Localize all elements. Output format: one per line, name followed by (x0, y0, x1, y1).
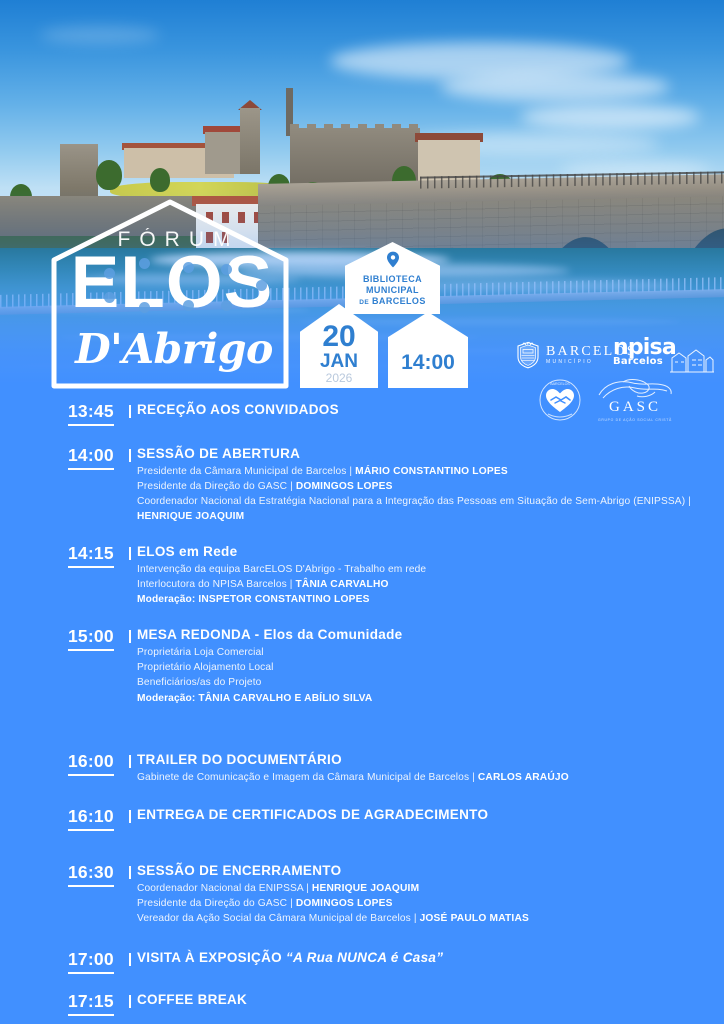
schedule-slot-detail: Vereador da Ação Social da Câmara Munici… (137, 911, 724, 926)
dabrigo-subtitle: D'Abrigo (64, 325, 284, 373)
schedule-slot-detail: Presidente da Direção do GASC | DOMINGOS… (137, 896, 724, 911)
schedule-slot-time-column: 14:00 (68, 444, 137, 470)
schedule-slot-title: ENTREGA DE CERTIFICADOS DE AGRADECIMENTO (137, 807, 724, 824)
speaker-name: TÂNIA CARVALHO (295, 579, 388, 590)
elos-title: ELOS (64, 246, 280, 319)
schedule-slot-title-italic: “A Rua NUNCA é Casa” (286, 950, 443, 965)
date-month: JAN (300, 352, 378, 371)
schedule-slot-detail: Coordenador Nacional da Estratégia Nacio… (137, 494, 724, 524)
schedule-slot-tick (129, 405, 131, 418)
schedule-slot-detail: Gabinete de Comunicação e Imagem da Câma… (137, 770, 724, 785)
puzzle-notch (139, 302, 150, 313)
date-year: 2026 (300, 372, 378, 384)
schedule-slot-body: ENTREGA DE CERTIFICADOS DE AGRADECIMENTO (137, 805, 724, 825)
schedule-slot-title: MESA REDONDA - Elos da Comunidade (137, 627, 724, 644)
venue-card-text: BIBLIOTECA MUNICIPAL DE BARCELOS (345, 274, 440, 307)
schedule-slot-detail: Proprietário Alojamento Local (137, 660, 724, 675)
puzzle-notch (183, 300, 194, 311)
puzzle-notch (183, 262, 194, 273)
schedule-slot-body: ELOS em RedeIntervenção da equipa BarcEL… (137, 542, 724, 607)
schedule-slot-tick (129, 810, 131, 823)
cloud (440, 72, 670, 102)
schedule-slot-time: 16:00 (68, 751, 114, 776)
schedule-slot-body: SESSÃO DE ENCERRAMENTOCoordenador Nacion… (137, 861, 724, 926)
puzzle-notch (221, 264, 232, 275)
schedule-slot: 16:10ENTREGA DE CERTIFICADOS DE AGRADECI… (0, 805, 724, 831)
schedule-slot-time-column: 15:00 (68, 625, 137, 651)
npisa-building-icon (670, 344, 714, 374)
cloud (520, 104, 700, 130)
schedule-slot-title: COFFEE BREAK (137, 992, 724, 1009)
schedule-slot-time-column: 16:00 (68, 750, 137, 776)
schedule-slot-title: SESSÃO DE ABERTURA (137, 446, 724, 463)
schedule-slot-title: TRAILER DO DOCUMENTÁRIO (137, 752, 724, 769)
schedule-slot-time: 13:45 (68, 401, 114, 426)
event-schedule: 13:45RECEÇÃO AOS CONVIDADOS14:00SESSÃO D… (0, 400, 724, 1016)
schedule-slot-body: TRAILER DO DOCUMENTÁRIOGabinete de Comun… (137, 750, 724, 785)
schedule-slot: 14:00SESSÃO DE ABERTURAPresidente da Câm… (0, 444, 724, 524)
schedule-slot-time-column: 13:45 (68, 400, 137, 426)
puzzle-notch (221, 300, 232, 311)
time-value: 14:00 (388, 352, 468, 373)
schedule-slot-detail: Coordenador Nacional da ENIPSSA | HENRIQ… (137, 881, 724, 896)
puzzle-notch (104, 292, 115, 303)
schedule-slot-detail: Moderação: INSPETOR CONSTANTINO LOPES (137, 592, 724, 607)
schedule-slot-time: 16:10 (68, 806, 114, 831)
schedule-slot-time-column: 17:15 (68, 990, 137, 1016)
npisa-wordmark: npisa Barcelos (613, 338, 676, 367)
schedule-slot-title: ELOS em Rede (137, 544, 724, 561)
speaker-name: INSPETOR CONSTANTINO LOPES (198, 594, 369, 605)
schedule-slot-time: 16:30 (68, 862, 114, 887)
schedule-slot-body: RECEÇÃO AOS CONVIDADOS (137, 400, 724, 420)
schedule-slot: 13:45RECEÇÃO AOS CONVIDADOS (0, 400, 724, 426)
schedule-slot-body: COFFEE BREAK (137, 990, 724, 1010)
speaker-name: DOMINGOS LOPES (296, 898, 393, 909)
venue-line-3: BARCELOS (372, 296, 426, 306)
schedule-slot-detail: Interlocutora do NPISA Barcelos | TÂNIA … (137, 577, 724, 592)
schedule-slot-detail: Intervenção da equipa BarcELOS D'Abrigo … (137, 562, 724, 577)
schedule-slot-time: 17:15 (68, 991, 114, 1016)
schedule-slot-body: MESA REDONDA - Elos da ComunidadeProprie… (137, 625, 724, 705)
speaker-name: HENRIQUE JOAQUIM (312, 883, 419, 894)
elos-title-text: ELOS (71, 242, 274, 323)
schedule-slot-time-column: 16:30 (68, 861, 137, 887)
schedule-slot-title: SESSÃO DE ENCERRAMENTO (137, 863, 724, 880)
schedule-slot: 16:30SESSÃO DE ENCERRAMENTOCoordenador N… (0, 861, 724, 926)
schedule-slot-title: RECEÇÃO AOS CONVIDADOS (137, 402, 724, 419)
schedule-slot-time: 15:00 (68, 626, 114, 651)
schedule-slot-time: 14:00 (68, 445, 114, 470)
schedule-slot-tick (129, 449, 131, 462)
schedule-slot: 15:00MESA REDONDA - Elos da ComunidadePr… (0, 625, 724, 705)
schedule-slot-time: 17:00 (68, 949, 114, 974)
schedule-slot: 14:15ELOS em RedeIntervenção da equipa B… (0, 542, 724, 607)
venue-line-1: BIBLIOTECA (345, 274, 440, 285)
svg-text:BARCELOS: BARCELOS (550, 382, 570, 386)
schedule-slot-tick (129, 755, 131, 768)
schedule-slot-detail: Beneficiários/as do Projeto (137, 675, 724, 690)
moderation-label: Moderação: (137, 594, 198, 605)
speaker-name: DOMINGOS LOPES (296, 481, 393, 492)
event-poster: FÓRUM ELOS D'Abrigo BIBLIOTECA MUNICIPAL… (0, 0, 724, 1024)
schedule-slot-detail: Presidente da Câmara Municipal de Barcel… (137, 464, 724, 479)
venue-de: DE (359, 299, 369, 306)
schedule-slot-tick (129, 547, 131, 560)
schedule-slot-tick (129, 630, 131, 643)
schedule-slot-time: 14:15 (68, 543, 114, 568)
logo-npisa-barcelos: npisa Barcelos (613, 338, 714, 374)
schedule-slot: 17:00VISITA À EXPOSIÇÃO “A Rua NUNCA é C… (0, 948, 724, 974)
cloud (40, 26, 160, 44)
venue-line-3-wrap: DE BARCELOS (345, 296, 440, 307)
date-day: 20 (300, 322, 378, 352)
schedule-slot-tick (129, 866, 131, 879)
schedule-slot-title: VISITA À EXPOSIÇÃO “A Rua NUNCA é Casa” (137, 950, 724, 967)
schedule-slot-body: VISITA À EXPOSIÇÃO “A Rua NUNCA é Casa” (137, 948, 724, 968)
puzzle-notch (256, 280, 267, 291)
schedule-slot-tick (129, 953, 131, 966)
schedule-slot-detail: Proprietária Loja Comercial (137, 645, 724, 660)
schedule-slot-detail: Presidente da Direção do GASC | DOMINGOS… (137, 479, 724, 494)
schedule-slot-time-column: 16:10 (68, 805, 137, 831)
location-pin-icon (386, 251, 400, 268)
venue-line-2: MUNICIPAL (345, 285, 440, 296)
schedule-slot: 16:00TRAILER DO DOCUMENTÁRIOGabinete de … (0, 750, 724, 785)
puzzle-notch (139, 258, 150, 269)
schedule-slot: 17:15COFFEE BREAK (0, 990, 724, 1016)
moderation-label: Moderação: (137, 693, 198, 704)
coat-of-arms-icon (515, 341, 541, 369)
schedule-slot-tick (129, 995, 131, 1008)
schedule-slot-time-column: 17:00 (68, 948, 137, 974)
npisa-name: npisa (613, 338, 676, 357)
schedule-slot-body: SESSÃO DE ABERTURAPresidente da Câmara M… (137, 444, 724, 524)
speaker-name: JOSÉ PAULO MATIAS (420, 913, 529, 924)
puzzle-notch (104, 268, 115, 279)
speaker-name: HENRIQUE JOAQUIM (137, 511, 244, 522)
schedule-slot-detail: Moderação: TÂNIA CARVALHO E ABÍLIO SILVA (137, 691, 724, 706)
speaker-name: TÂNIA CARVALHO E ABÍLIO SILVA (198, 693, 372, 704)
speaker-name: MÁRIO CONSTANTINO LOPES (355, 466, 508, 477)
schedule-slot-time-column: 14:15 (68, 542, 137, 568)
speaker-name: CARLOS ARAÚJO (478, 772, 569, 783)
